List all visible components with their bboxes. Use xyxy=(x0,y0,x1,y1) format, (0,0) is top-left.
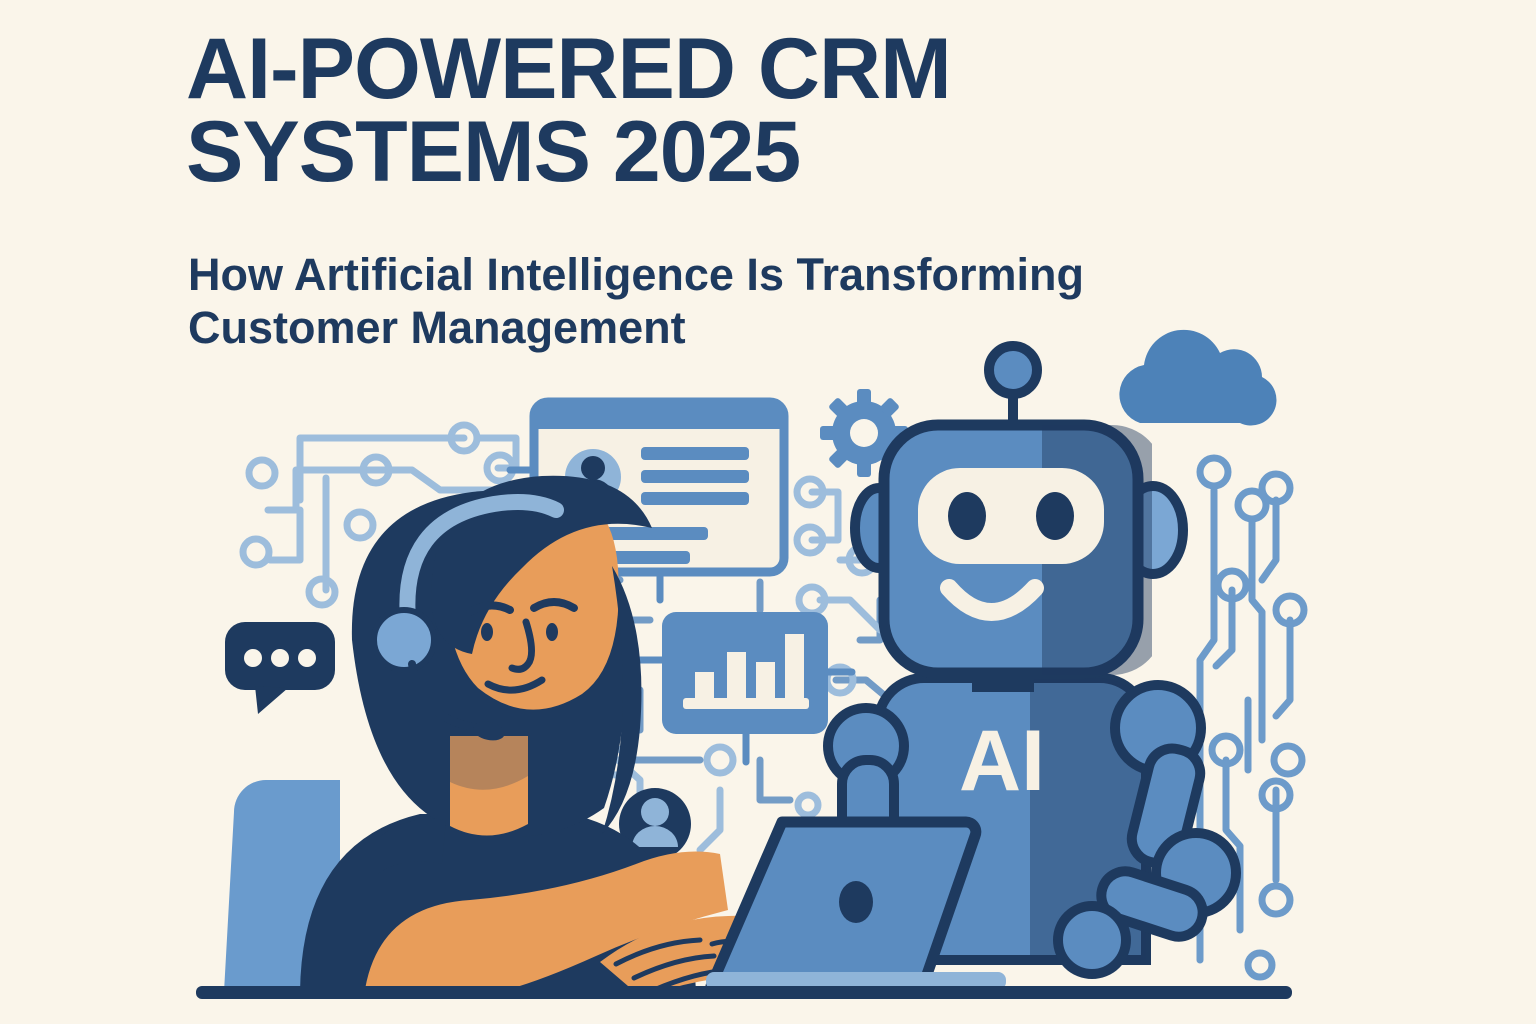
agent-eye-left xyxy=(481,623,493,641)
chart-bar xyxy=(695,672,714,700)
crm-card-line xyxy=(641,470,749,483)
robot-head xyxy=(884,425,1152,675)
robot-chest-label: AI xyxy=(959,713,1045,809)
headset-earcup xyxy=(374,610,434,670)
laptop-logo xyxy=(839,881,873,923)
robot-visor xyxy=(918,468,1104,564)
page-title: AI-Powered CRM Systems 2025 xyxy=(186,28,1186,193)
bar-chart-panel xyxy=(662,612,828,734)
crm-card-line xyxy=(641,492,749,505)
crm-card-line xyxy=(641,447,749,460)
chart-bar xyxy=(727,652,746,700)
agent-eye-right xyxy=(546,623,558,641)
robot-eye-left xyxy=(948,492,986,540)
desk-line xyxy=(196,986,1292,999)
chart-bar xyxy=(785,634,804,700)
page-subtitle: How Artificial Intelligence Is Transform… xyxy=(188,248,1298,354)
robot-eye-right xyxy=(1036,492,1074,540)
chart-bar xyxy=(756,662,775,700)
